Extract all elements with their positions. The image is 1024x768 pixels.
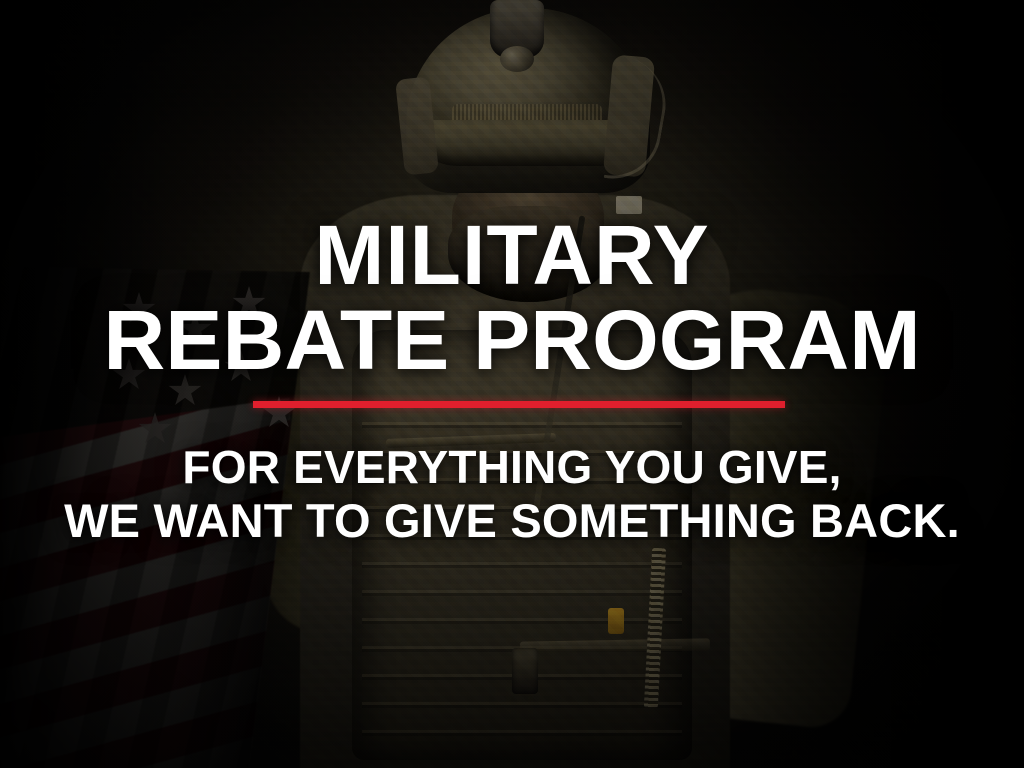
poster-content: MILITARY REBATE PROGRAM FOR EVERYTHING Y…: [0, 0, 1024, 768]
subheadline-line-2: WE WANT TO GIVE SOMETHING BACK.: [0, 497, 1024, 546]
red-divider-rule: [253, 401, 785, 408]
military-rebate-poster: MILITARY REBATE PROGRAM FOR EVERYTHING Y…: [0, 0, 1024, 768]
subheadline-line-1: FOR EVERYTHING YOU GIVE,: [0, 444, 1024, 492]
headline-line-1: MILITARY: [0, 214, 1024, 297]
headline-line-2: REBATE PROGRAM: [0, 299, 1024, 382]
